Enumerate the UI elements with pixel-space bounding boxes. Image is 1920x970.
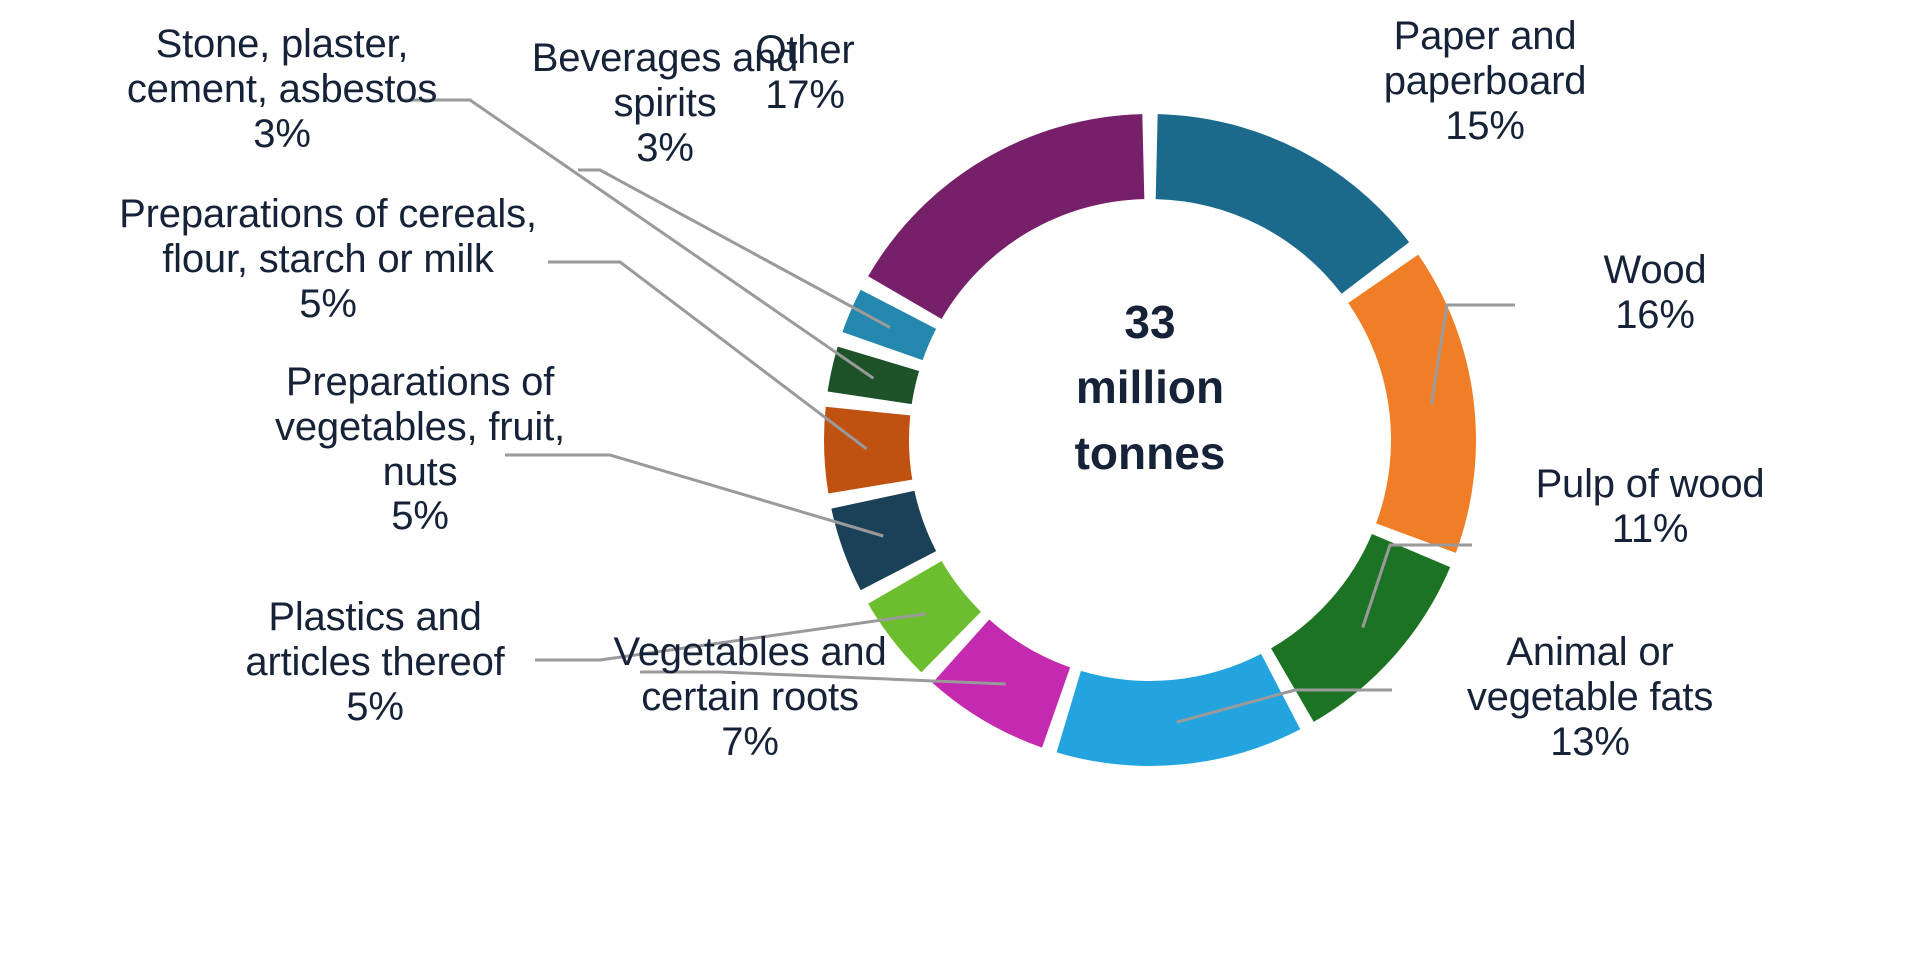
label-wood: Wood 16% xyxy=(1530,248,1780,338)
label-preparations-vegetables-fruit-nuts: Preparations of vegetables, fruit, nuts … xyxy=(220,360,620,539)
left-edge-margin xyxy=(0,0,10,970)
center-total-label: 33 million tonnes xyxy=(995,290,1305,486)
label-preparations-cereals-flour-starch-milk: Preparations of cereals, flour, starch o… xyxy=(78,192,578,326)
donut-slice[interactable] xyxy=(824,407,912,494)
label-stone-plaster-cement-asbestos: Stone, plaster, cement, asbestos 3% xyxy=(72,22,492,156)
label-other: Other 17% xyxy=(690,28,920,118)
label-vegetables-certain-roots: Vegetables and certain roots 7% xyxy=(560,630,940,764)
donut-slice[interactable] xyxy=(868,114,1144,319)
label-pulp-of-wood: Pulp of wood 11% xyxy=(1490,462,1810,552)
label-animal-vegetable-fats: Animal or vegetable fats 13% xyxy=(1400,630,1780,764)
donut-slice[interactable] xyxy=(1057,654,1301,766)
donut-slice[interactable] xyxy=(1348,255,1476,553)
label-plastics-articles-thereof: Plastics and articles thereof 5% xyxy=(190,595,560,729)
label-paper-paperboard: Paper and paperboard 15% xyxy=(1310,14,1660,148)
leader-line xyxy=(578,170,890,327)
donut-chart-figure: 33 million tonnes Stone, plaster, cement… xyxy=(0,0,1920,970)
right-edge-margin xyxy=(1910,0,1920,970)
